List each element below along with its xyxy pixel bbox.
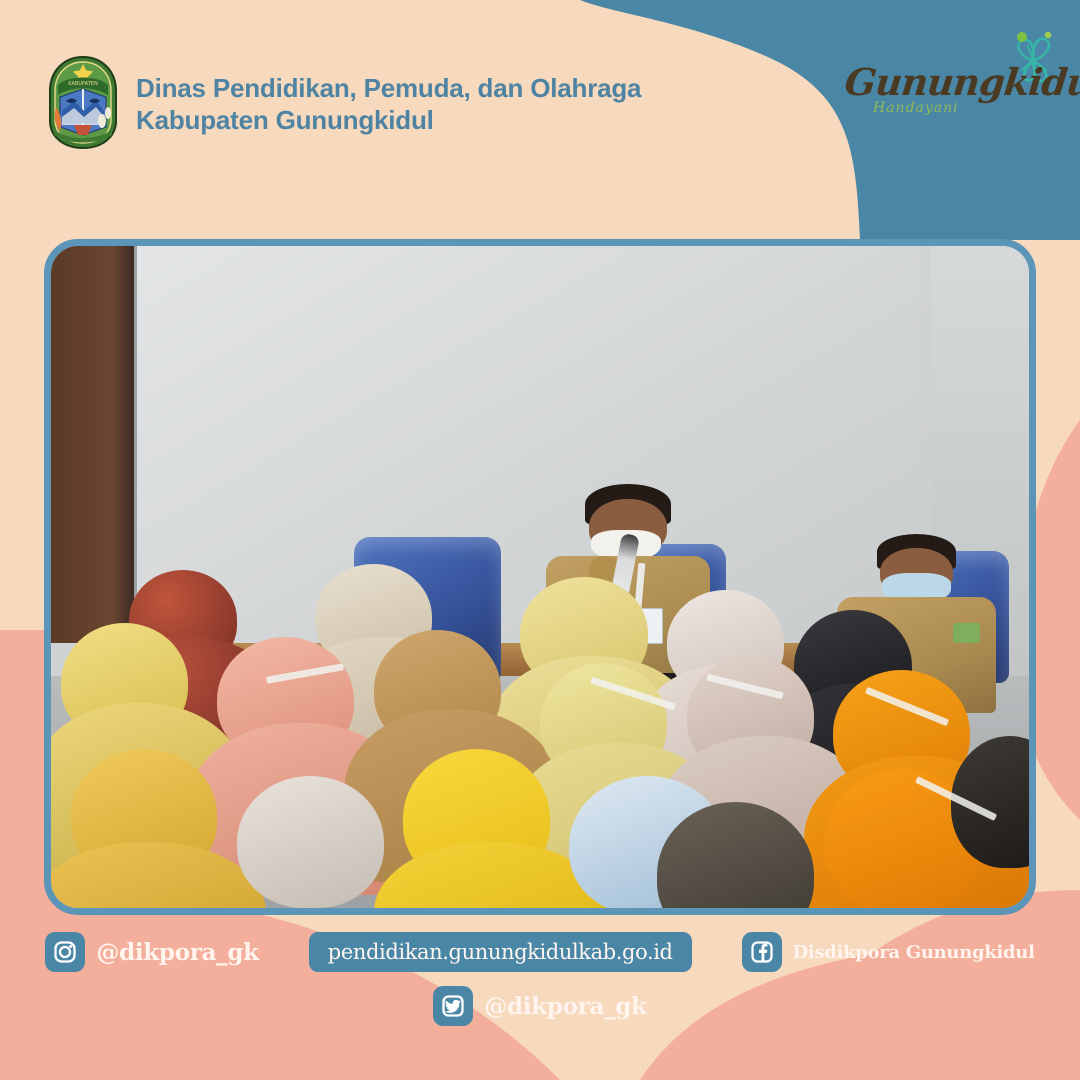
gunungkidul-brand-logo: Gunungkidul Handayani [845,34,1060,134]
footer-row-secondary: @dikpora_gk [0,986,1080,1026]
instagram-icon[interactable] [45,932,85,972]
event-photo [51,246,1029,908]
brand-tagline: Handayani [873,100,959,116]
org-title-line1: Dinas Pendidikan, Pemuda, dan Olahraga [136,73,641,103]
poster-canvas: KABUPATEN Dinas Pendidikan, Pemuda, dan … [0,0,1080,1080]
brand-wordmark: Gunungkidul [843,60,1038,104]
facebook-page-name[interactable]: Disdikpora Gunungkidul [793,942,1035,963]
official-shoulder-emblem [953,623,980,643]
org-title-line2: Kabupaten Gunungkidul [136,104,641,136]
twitter-contact[interactable]: @dikpora_gk [433,986,646,1026]
poster-header: KABUPATEN Dinas Pendidikan, Pemuda, dan … [0,0,1080,230]
event-photo-frame [44,239,1036,915]
projector-screen [134,246,919,659]
regency-crest-icon: KABUPATEN [44,55,122,150]
instagram-handle[interactable]: @dikpora_gk [96,939,258,966]
instagram-contact[interactable]: @dikpora_gk [45,932,258,972]
facebook-contact[interactable]: Disdikpora Gunungkidul [742,932,1035,972]
twitter-handle[interactable]: @dikpora_gk [484,993,646,1020]
footer-row-primary: @dikpora_gk pendidikan.gunungkidulkab.go… [0,932,1080,972]
audience-head [237,776,384,908]
twitter-icon[interactable] [433,986,473,1026]
page-title: Dinas Pendidikan, Pemuda, dan Olahraga K… [136,72,641,136]
photo-left-door [51,246,139,643]
svg-text:KABUPATEN: KABUPATEN [68,81,98,87]
facebook-icon[interactable] [742,932,782,972]
poster-footer: @dikpora_gk pendidikan.gunungkidulkab.go… [0,920,1080,1080]
website-url-badge[interactable]: pendidikan.gunungkidulkab.go.id [309,932,692,972]
